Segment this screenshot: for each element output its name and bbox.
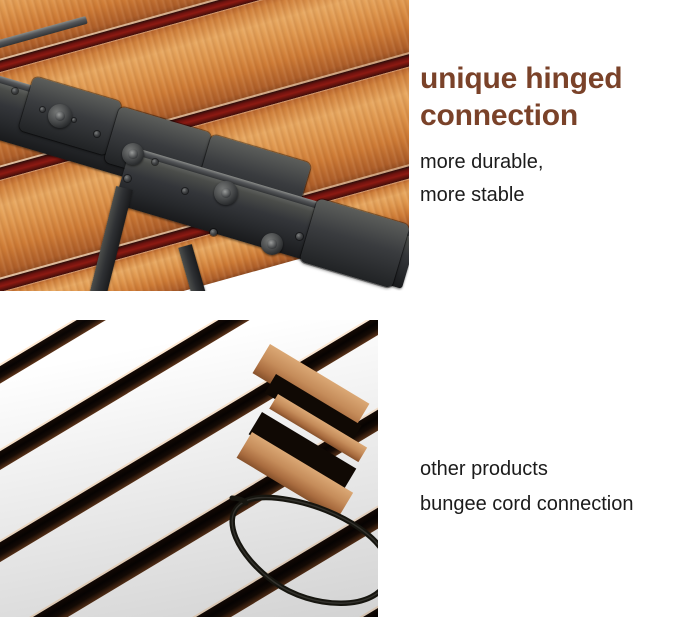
hinge-pivot-boss-4 [261,233,283,255]
rivet-8 [296,233,303,240]
subheadline-line-2: more stable [420,179,678,212]
hinge-pivot-boss-1 [48,104,72,128]
hinge-pivot-boss-3 [214,181,238,205]
bungee-cord-loop [0,320,378,617]
headline-line-1: unique hinged [420,60,678,97]
hinge-pivot-boss-2 [122,143,144,165]
rivet-1 [12,88,18,94]
rivet-2 [40,107,45,112]
rivet-6 [182,188,188,194]
subheadline-benefits: more durable, more stable [420,146,678,212]
rivet-3 [94,131,100,137]
headline-unique-hinged-connection: unique hinged connection [420,60,678,134]
caption-other-products: other products bungee cord connection [420,452,679,522]
rivet-7 [210,229,217,236]
caption-line-2: bungee cord connection [420,487,679,522]
rivet-5 [124,175,131,182]
hinged-connection-photo [0,0,409,291]
caption-line-1: other products [420,452,679,487]
rivet-10 [72,118,76,122]
bungee-cord-photo [0,320,378,617]
headline-line-2: connection [420,97,678,134]
subheadline-line-1: more durable, [420,146,678,179]
rivet-4 [152,159,158,165]
